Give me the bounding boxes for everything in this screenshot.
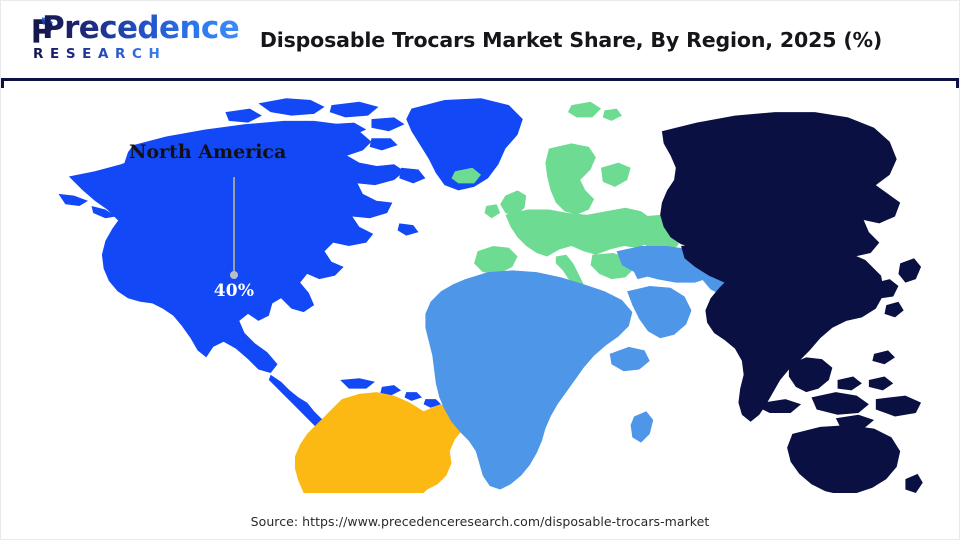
map-area: North America 40% <box>1 81 959 501</box>
world-map <box>53 93 923 493</box>
source-url[interactable]: Source: https://www.precedenceresearch.c… <box>251 514 710 529</box>
logo-subtitle: RESEARCH <box>33 47 166 62</box>
header: Precedence RESEARCH Disposable Trocars M… <box>1 1 959 78</box>
precedence-research-logo: Precedence RESEARCH <box>16 11 186 69</box>
page-title: Disposable Trocars Market Share, By Regi… <box>201 1 941 78</box>
map-region-latin-america[interactable] <box>295 392 469 493</box>
map-region-middle-east-africa[interactable] <box>425 246 759 489</box>
map-region-asia-pacific[interactable] <box>660 112 923 493</box>
infographic-canvas: Precedence RESEARCH Disposable Trocars M… <box>0 0 960 540</box>
footer: Source: https://www.precedenceresearch.c… <box>1 506 959 536</box>
